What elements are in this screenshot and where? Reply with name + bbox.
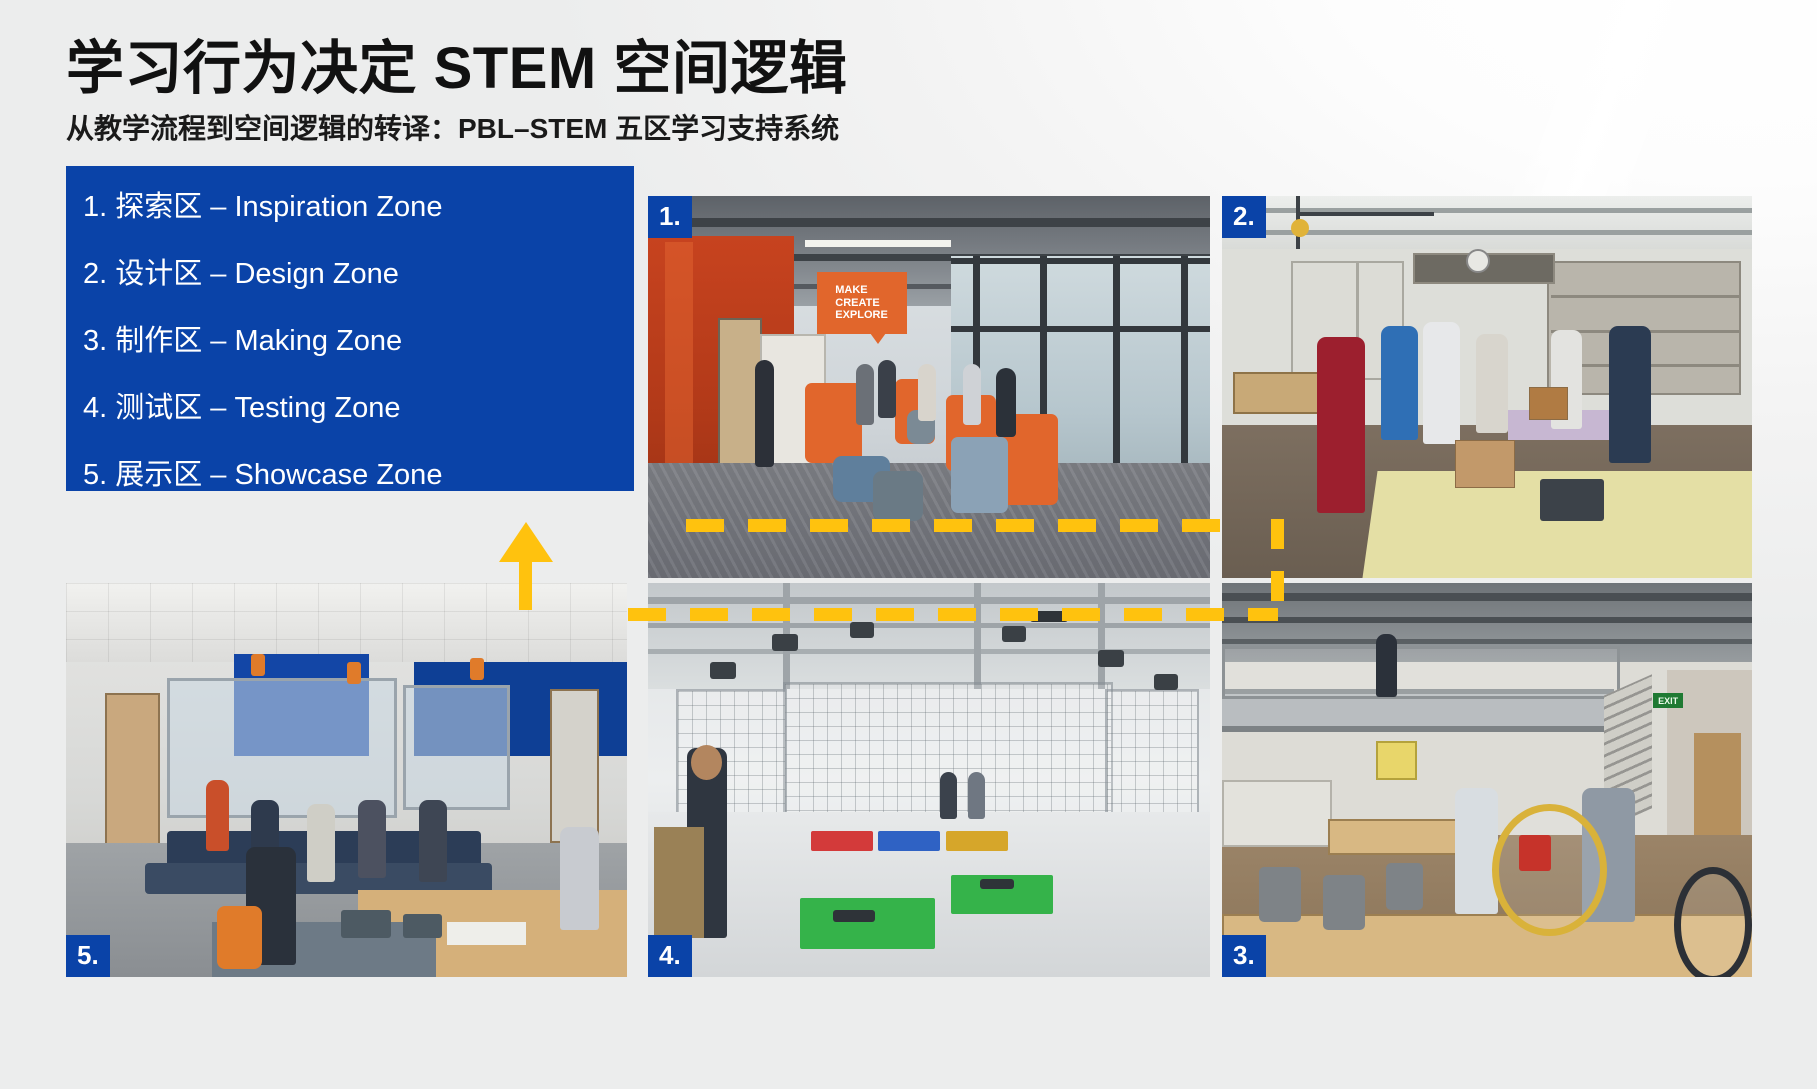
photo5-pendant-lamp xyxy=(347,662,361,684)
photo5-pendant-lamp xyxy=(251,654,265,676)
photo4-motion-camera xyxy=(1098,650,1124,667)
slide-canvas: 学习行为决定 STEM 空间逻辑 从教学流程到空间逻辑的转译：PBL–STEM … xyxy=(0,0,1817,1089)
photo2-student xyxy=(1609,326,1651,464)
photo5-ceiling-grid xyxy=(66,583,627,662)
photo3-person-on-mezzanine xyxy=(1376,634,1397,697)
photo5-poster xyxy=(447,922,526,946)
zone-list: 1. 探索区 – Inspiration Zone 2. 设计区 – Desig… xyxy=(83,174,624,509)
photo2-conduit xyxy=(1296,212,1434,216)
photo4-drone-on-pad xyxy=(980,879,1014,889)
photo5-pendant-lamp xyxy=(470,658,484,680)
photo1-student xyxy=(856,364,874,425)
photo4-target-mat xyxy=(811,831,873,851)
photo1-student xyxy=(996,368,1015,437)
flow-dash-connector-down xyxy=(1271,519,1284,601)
zone-list-item-4[interactable]: 4. 测试区 – Testing Zone xyxy=(83,375,624,442)
photo4-motion-camera xyxy=(850,622,874,638)
photo5-stool xyxy=(217,906,262,969)
photo4-ceiling-pipe xyxy=(648,623,1210,628)
photo2-student xyxy=(1476,334,1508,433)
photo-badge-making: 3. xyxy=(1222,935,1266,977)
photo3-table xyxy=(1328,819,1459,855)
photo5-door xyxy=(550,689,599,843)
wall-sign-line-2: CREATE xyxy=(835,297,879,309)
photo3-exit-sign: EXIT xyxy=(1653,693,1683,708)
photo-design-zone[interactable]: 2. xyxy=(1222,196,1752,578)
photo2-workbench xyxy=(1233,372,1322,414)
photo4-motion-camera xyxy=(710,662,736,679)
zone-list-item-3[interactable]: 3. 制作区 – Making Zone xyxy=(83,308,624,375)
photo5-robot-model xyxy=(341,910,391,938)
photo1-beam xyxy=(648,218,1210,227)
photo2-shelf-divider xyxy=(1551,295,1742,298)
photo-testing-zone[interactable]: 4. xyxy=(648,583,1210,977)
photo5-glass-partition xyxy=(403,685,510,809)
photo4-ceiling-pipe xyxy=(648,597,1210,604)
photo3-mezzanine-railing xyxy=(1222,646,1620,699)
photo5-student xyxy=(560,827,599,929)
photo1-light-fixture xyxy=(805,240,951,247)
photo4-motion-camera xyxy=(772,634,798,651)
photo4-instructor-head xyxy=(691,745,722,780)
photo4-ceiling-pipe xyxy=(1098,583,1105,689)
photo2-cardboard-box xyxy=(1529,387,1568,420)
page-title: 学习行为决定 STEM 空间逻辑 xyxy=(66,38,847,101)
photo2-cardboard-box xyxy=(1455,440,1515,488)
photo4-cabinet xyxy=(654,827,705,937)
photo1-wall-sign-pointer xyxy=(862,322,894,344)
photo3-red-tool xyxy=(1519,835,1551,870)
flow-arrow-stem xyxy=(519,560,532,610)
photo-badge-showcase: 5. xyxy=(66,935,110,977)
photo1-student xyxy=(755,360,775,467)
photo3-workbench-foreground xyxy=(1222,914,1752,977)
photo3-wall-poster xyxy=(1376,741,1417,780)
photo5-student xyxy=(206,780,228,851)
photo2-student xyxy=(1381,326,1418,441)
photo3-stool xyxy=(1259,867,1301,922)
photo4-student xyxy=(940,772,957,819)
photo-badge-inspiration: 1. xyxy=(648,196,692,238)
flow-dash-row1 xyxy=(686,519,1226,532)
photo4-motion-camera xyxy=(1154,674,1178,690)
photo4-landing-pad xyxy=(800,898,935,949)
photo1-student xyxy=(963,364,981,425)
photo5-student xyxy=(307,804,335,883)
photo3-student xyxy=(1455,788,1497,914)
photo1-ottoman xyxy=(873,471,924,521)
photo3-stool xyxy=(1386,863,1423,910)
zone-list-item-5[interactable]: 5. 展示区 – Showcase Zone xyxy=(83,442,624,509)
photo1-student xyxy=(878,360,896,417)
photo4-motion-camera xyxy=(1002,626,1026,642)
photo1-mullion xyxy=(951,258,1210,264)
photo3-ceiling-beam xyxy=(1222,639,1752,644)
photo-badge-design: 2. xyxy=(1222,196,1266,238)
photo2-student xyxy=(1317,337,1365,513)
photo4-target-mat xyxy=(946,831,1008,851)
flow-arrow-up-icon xyxy=(499,522,553,562)
photo5-student xyxy=(358,800,386,879)
photo4-ceiling-pipe xyxy=(974,583,981,689)
photo3-ceiling-beam xyxy=(1222,617,1752,623)
photo4-ceiling-pipe xyxy=(648,649,1210,654)
flow-dash-row2 xyxy=(628,608,1278,621)
zone-list-item-2[interactable]: 2. 设计区 – Design Zone xyxy=(83,241,624,308)
photo-badge-testing: 4. xyxy=(648,935,692,977)
photo4-drone-on-pad xyxy=(833,910,875,922)
photo2-pendant-light xyxy=(1291,219,1309,237)
photo4-target-mat xyxy=(878,831,940,851)
photo-showcase-zone[interactable]: 5. xyxy=(66,583,627,977)
photo5-door xyxy=(105,693,159,855)
photo5-student xyxy=(419,800,447,883)
photo2-glue-gun-icon xyxy=(1540,479,1604,521)
photo-making-zone[interactable]: EXIT 3. xyxy=(1222,583,1752,977)
zone-list-item-1[interactable]: 1. 探索区 – Inspiration Zone xyxy=(83,174,624,241)
photo3-wall-shelving xyxy=(1222,780,1332,847)
photo1-lounge-chair xyxy=(951,437,1007,513)
page-subtitle: 从教学流程到空间逻辑的转译：PBL–STEM 五区学习支持系统 xyxy=(66,112,839,146)
photo1-mullion xyxy=(951,326,1210,332)
photo3-ceiling-beam xyxy=(1222,593,1752,601)
photo5-glass-partition xyxy=(167,678,397,818)
photo1-student xyxy=(918,364,936,421)
wall-sign-line-1: MAKE xyxy=(835,284,867,296)
photo5-robot-model xyxy=(403,914,442,938)
photo1-lounge-chair xyxy=(805,383,861,463)
photo3-bicycle-wheel xyxy=(1674,867,1752,977)
photo2-student xyxy=(1423,322,1460,444)
zone-list-panel: 1. 探索区 – Inspiration Zone 2. 设计区 – Desig… xyxy=(66,166,634,491)
photo4-student xyxy=(968,772,985,819)
wall-sign-line-3: EXPLORE xyxy=(835,309,888,321)
photo3-stool xyxy=(1323,875,1365,930)
